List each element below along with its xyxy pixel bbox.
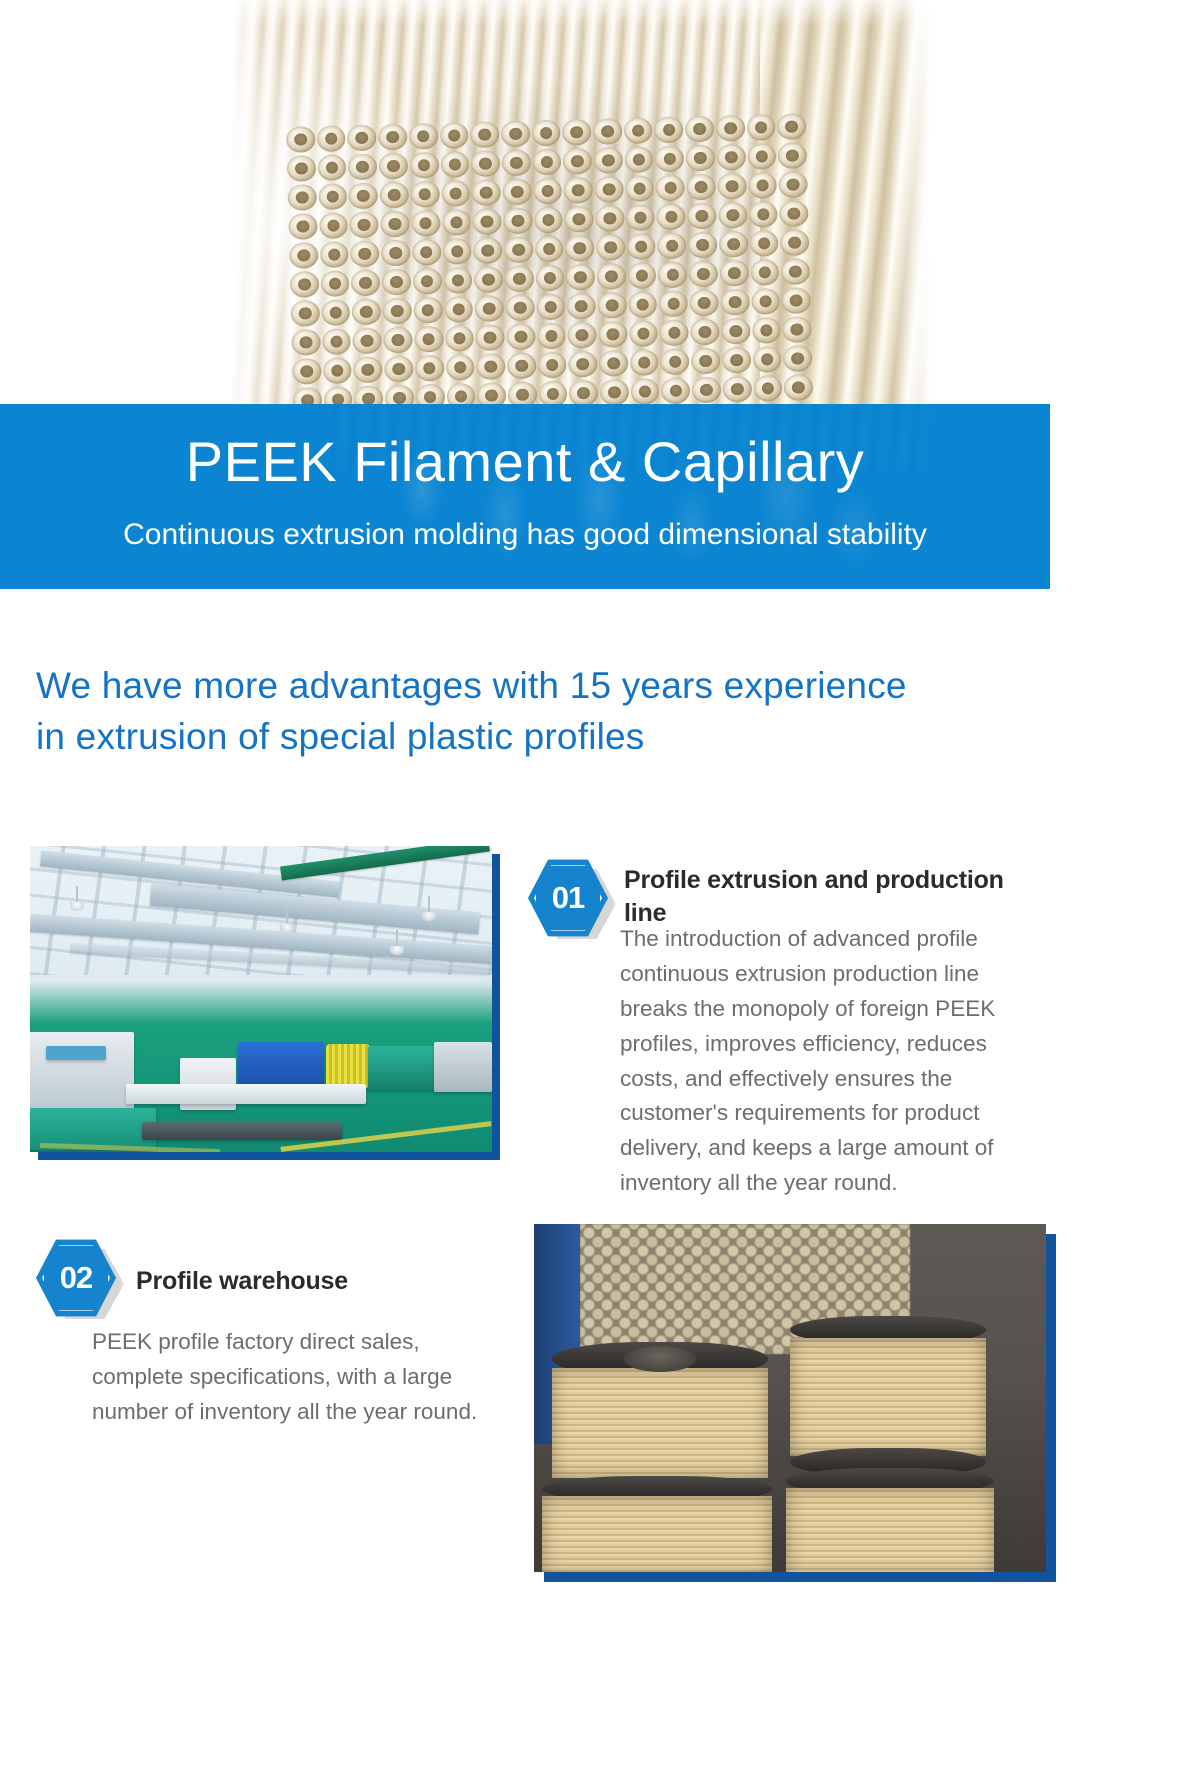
banner-subtitle: Continuous extrusion molding has good di… [0,517,1050,553]
block-01-image [30,846,492,1152]
hero-left-fade [230,0,270,460]
filament-spool [542,1476,772,1572]
hero-right-fade [890,0,930,460]
section-heading-line-1: We have more advantages with 15 years ex… [36,660,1046,711]
hero-top-fade [230,0,930,26]
product-detail-page: PEEK Filament & Capillary Continuous ext… [0,0,1200,1784]
block-02-title: Profile warehouse [136,1259,348,1298]
hero-product-image [230,0,930,460]
block-02-body-text: PEEK profile factory direct sales, compl… [92,1325,492,1430]
block-01-photo [30,846,492,1152]
hero-tube-ends-grid [286,113,814,447]
filament-spool [786,1468,994,1572]
block-02-photo [534,1224,1046,1572]
block-01-body-text: The introduction of advanced profile con… [620,922,1048,1201]
section-heading-line-2: in extrusion of special plastic profiles [36,711,1046,762]
filament-spool [552,1342,768,1492]
banner-title: PEEK Filament & Capillary [0,434,1050,490]
filament-spool [790,1316,986,1480]
block-02-header: 02 Profile warehouse [36,1238,516,1318]
block-02-number-label: 02 [36,1238,116,1318]
section-heading: We have more advantages with 15 years ex… [36,660,1046,762]
block-01-title: Profile extrusion and production line [624,858,1048,929]
block-01-number-badge: 01 [528,858,614,938]
block-02-number-badge: 02 [36,1238,122,1318]
block-01-number-label: 01 [528,858,608,938]
block-02-image [534,1224,1046,1572]
hero-banner: PEEK Filament & Capillary Continuous ext… [0,404,1050,589]
